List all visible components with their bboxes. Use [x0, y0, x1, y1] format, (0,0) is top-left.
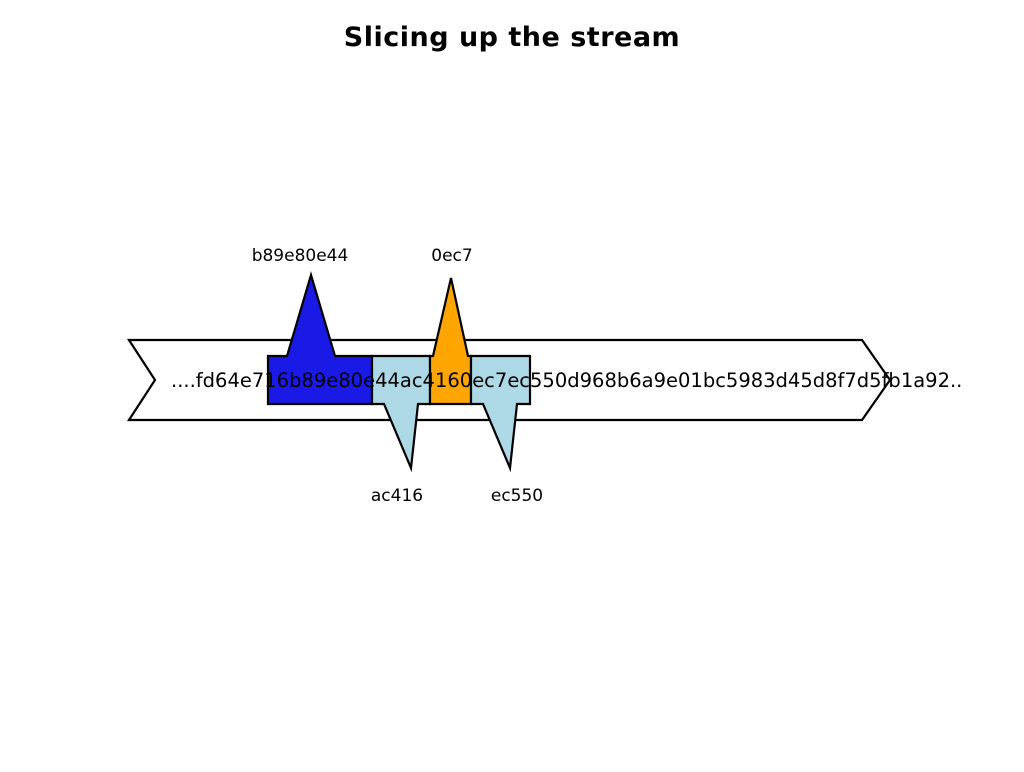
- slice-ac416-text: ac416: [400, 369, 460, 392]
- page-title: Slicing up the stream: [0, 22, 1024, 53]
- stream-text-group: ....fd64e716b89e80e44ac4160ec7ec550d968b…: [171, 369, 962, 392]
- slice-0ec7-label: 0ec7: [431, 246, 472, 266]
- slice-ec550-label: ec550: [491, 486, 543, 506]
- stream-prefix: ....fd64e716: [171, 369, 289, 392]
- stream-suffix: d968b6a9e01bc5983d45d8f7d5fb1a92..: [567, 369, 962, 392]
- stream-slicing-diagram: ....fd64e716b89e80e44ac4160ec7ec550d968b…: [0, 0, 1024, 768]
- slice-ac416-label: ac416: [371, 486, 423, 506]
- slice-b89e80e44-text: b89e80e44: [289, 369, 400, 392]
- slice-b89e80e44-label: b89e80e44: [252, 246, 349, 266]
- slice-0ec7-text: 0ec7: [460, 369, 508, 392]
- stream-text: ....fd64e716b89e80e44ac4160ec7ec550d968b…: [171, 369, 962, 392]
- diagram-canvas: Slicing up the stream ....fd64e716b89e80…: [0, 0, 1024, 768]
- slice-ec550-text: ec550: [507, 369, 567, 392]
